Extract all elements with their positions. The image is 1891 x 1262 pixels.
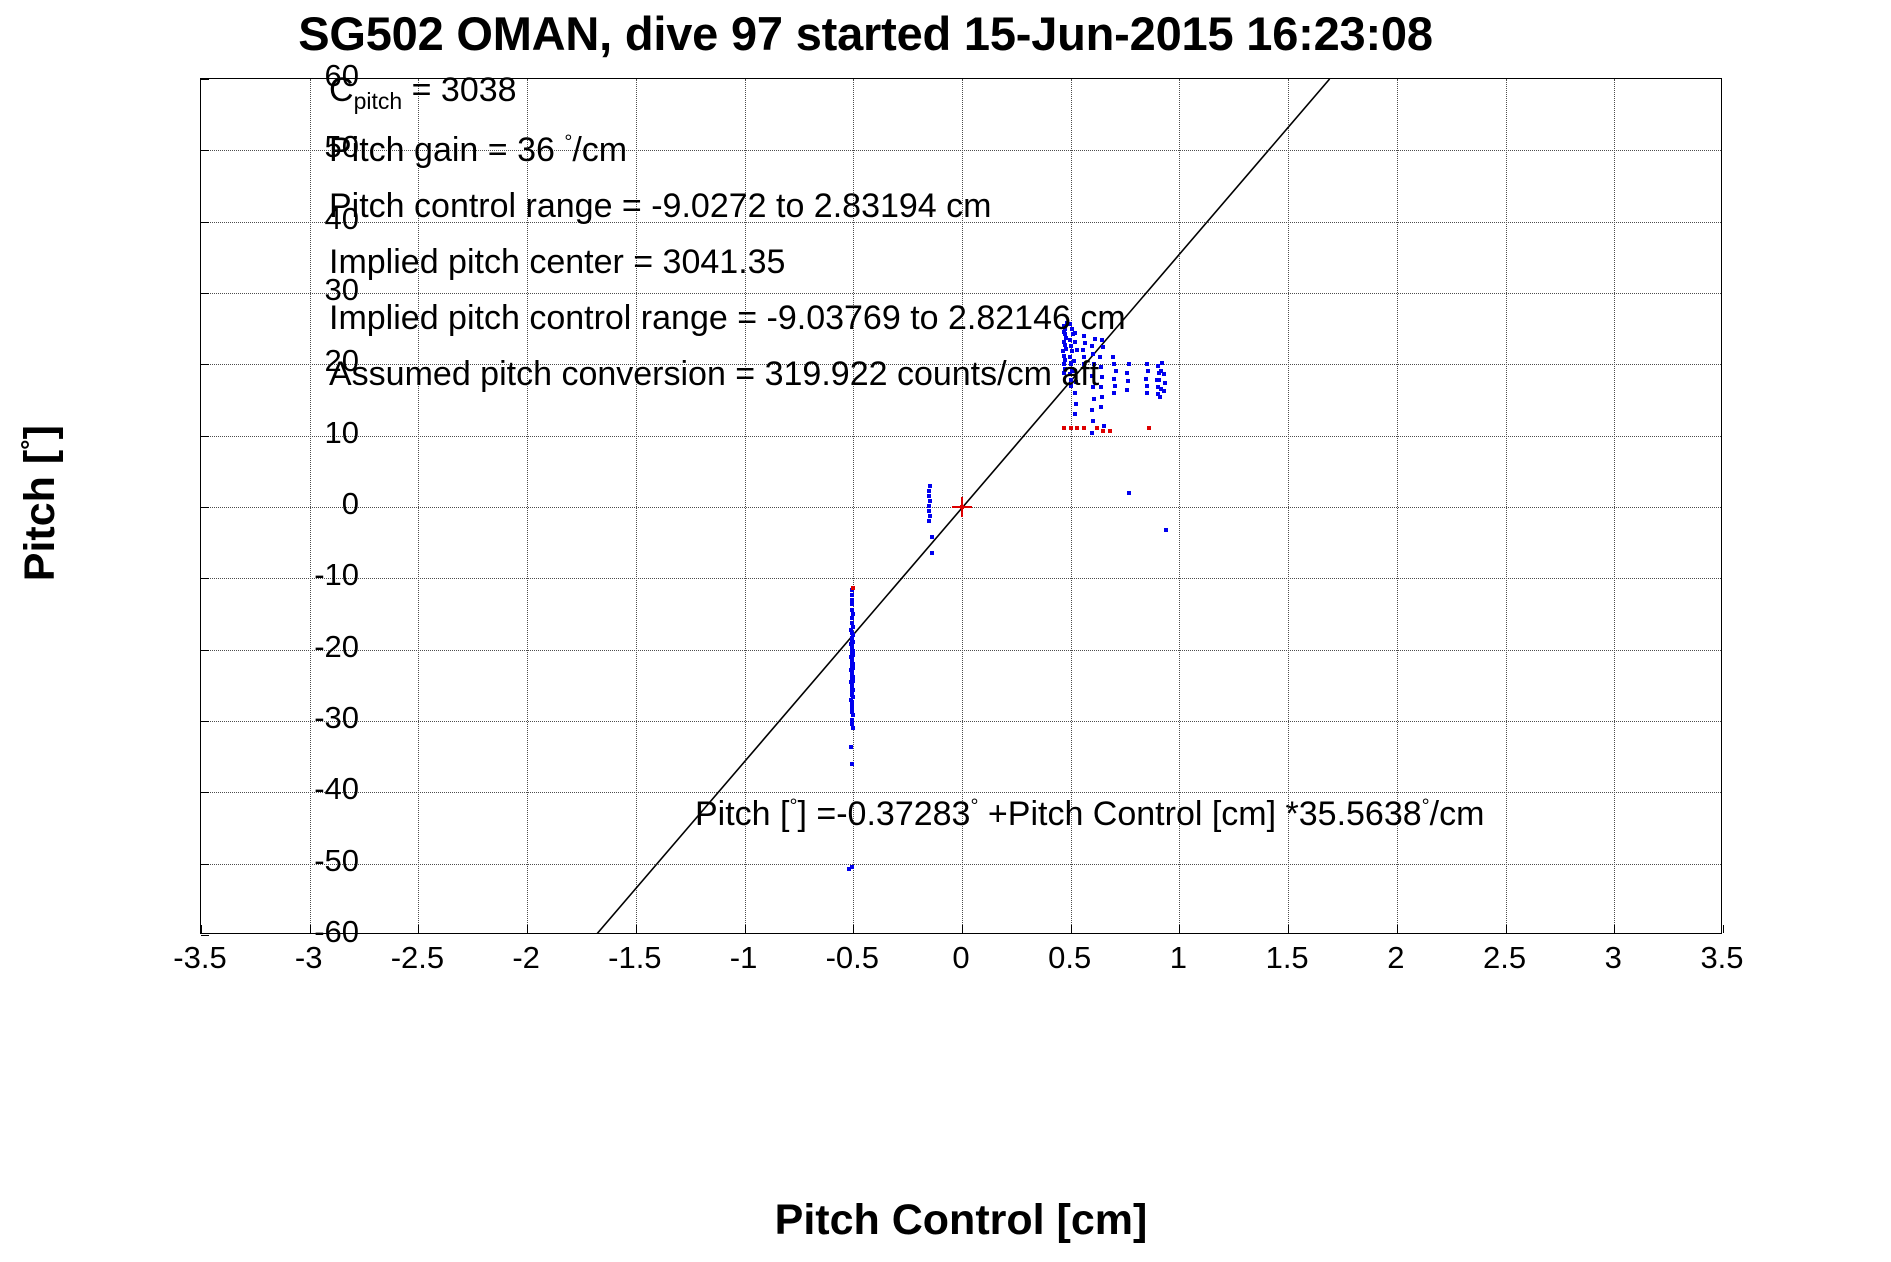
y-tick-label: -30 [239, 700, 359, 736]
data-point [1064, 347, 1068, 351]
data-point [1125, 371, 1129, 375]
y-tick-label: 10 [239, 415, 359, 451]
data-point [1069, 426, 1073, 430]
x-tick-label: -0.5 [792, 940, 912, 976]
x-tick-mark [1723, 925, 1724, 933]
data-point [1100, 338, 1104, 342]
data-point [1063, 343, 1067, 347]
data-point [1158, 395, 1162, 399]
pitch-gain-unit: /cm [572, 131, 627, 169]
data-point [1101, 429, 1105, 433]
y-tick-label: -10 [239, 557, 359, 593]
y-tick-label: -50 [239, 843, 359, 879]
data-point [927, 494, 931, 498]
c-pitch-value: = 3038 [402, 71, 516, 109]
eq-part3: +Pitch Control [cm] *35.5638 [978, 795, 1421, 833]
data-point [850, 602, 854, 606]
data-point [1157, 378, 1161, 382]
x-axis-label: Pitch Control [cm] [200, 1196, 1722, 1245]
data-point [1112, 391, 1116, 395]
eq-part4: /cm [1430, 795, 1485, 833]
data-point [1083, 341, 1087, 345]
data-point [1082, 426, 1086, 430]
data-point [1101, 345, 1105, 349]
y-tick-label: -40 [239, 771, 359, 807]
data-point [850, 762, 854, 766]
annotation-implied-pitch-center: Implied pitch center = 3041.35 [329, 243, 785, 282]
x-tick-label: 2 [1336, 940, 1456, 976]
x-tick-label: 0.5 [1010, 940, 1130, 976]
data-point [847, 867, 851, 871]
annotation-pitch-gain: Pitch gain = 36 °/cm [329, 131, 627, 170]
x-tick-label: 3 [1553, 940, 1673, 976]
data-point [1090, 408, 1094, 412]
data-point [1162, 372, 1166, 376]
data-point [1145, 391, 1149, 395]
data-point [1091, 419, 1095, 423]
data-point [1090, 431, 1094, 435]
data-point [1162, 389, 1166, 393]
y-tick-label: 50 [239, 129, 359, 165]
page-title: SG502 OMAN, dive 97 started 15-Jun-2015 … [0, 6, 1811, 61]
y-axis-label: Pitch [°] [15, 293, 65, 713]
y-tick-label: 60 [239, 58, 359, 94]
y-tick-label: 0 [239, 486, 359, 522]
data-point [1092, 397, 1096, 401]
data-point [1095, 426, 1099, 430]
data-point [927, 519, 931, 523]
data-point [1112, 362, 1116, 366]
data-point [927, 504, 931, 508]
data-point [1074, 402, 1078, 406]
data-point [1062, 426, 1066, 430]
data-point [930, 535, 934, 539]
x-tick-label: -2 [466, 940, 586, 976]
data-point [1145, 362, 1149, 366]
data-point [1127, 491, 1131, 495]
data-point [927, 489, 931, 493]
data-point [851, 726, 855, 730]
data-point [1099, 405, 1103, 409]
data-point [849, 745, 853, 749]
data-point [1146, 369, 1150, 373]
data-point [1111, 355, 1115, 359]
data-point [1068, 338, 1072, 342]
x-tick-label: -1.5 [575, 940, 695, 976]
data-point [930, 551, 934, 555]
data-point [1075, 348, 1079, 352]
data-point [1075, 426, 1079, 430]
origin-plus-marker [951, 496, 973, 518]
x-tick-label: -1 [684, 940, 804, 976]
data-point [1113, 384, 1117, 388]
c-pitch-subscript: pitch [354, 88, 403, 114]
data-point [1081, 348, 1085, 352]
x-tick-label: -2.5 [357, 940, 477, 976]
annotation-assumed-pitch-conversion: Assumed pitch conversion = 319.922 count… [329, 355, 1099, 394]
data-point [1069, 344, 1073, 348]
data-point [1073, 340, 1077, 344]
data-point [1145, 384, 1149, 388]
data-point [1108, 429, 1112, 433]
data-point [1100, 375, 1104, 379]
data-point [1073, 412, 1077, 416]
data-point [1144, 377, 1148, 381]
chart-page: SG502 OMAN, dive 97 started 15-Jun-2015 … [0, 0, 1891, 1262]
data-point [1062, 340, 1066, 344]
data-point [851, 586, 855, 590]
y-tick-mark [201, 935, 209, 936]
data-point [1100, 395, 1104, 399]
annotation-pitch-control-range: Pitch control range = -9.0272 to 2.83194… [329, 187, 991, 226]
data-point [1099, 365, 1103, 369]
data-point [1112, 377, 1116, 381]
annotation-implied-pitch-control-range: Implied pitch control range = -9.03769 t… [329, 299, 1126, 338]
data-point [1127, 362, 1131, 366]
data-point [1099, 385, 1103, 389]
eq-part1: Pitch [ [695, 795, 789, 833]
data-point [928, 484, 932, 488]
x-tick-label: 2.5 [1445, 940, 1565, 976]
data-point [1090, 344, 1094, 348]
y-tick-label: 20 [239, 343, 359, 379]
data-point [1114, 369, 1118, 373]
data-point [1126, 379, 1130, 383]
x-tick-label: 1 [1118, 940, 1238, 976]
degree-icon: ° [1422, 796, 1430, 818]
eq-part2: ] =-0.37283 [797, 795, 970, 833]
y-tick-label: -60 [239, 914, 359, 950]
annotation-fit-equation: Pitch [°] =-0.37283° +Pitch Control [cm]… [695, 795, 1484, 834]
data-point [1160, 361, 1164, 365]
plot-area: Cpitch = 3038 Pitch gain = 36 °/cm Pitch… [200, 78, 1722, 934]
data-point [1125, 388, 1129, 392]
data-point [1147, 426, 1151, 430]
x-tick-label: 3.5 [1662, 940, 1782, 976]
y-tick-label: -20 [239, 629, 359, 665]
y-tick-label: 40 [239, 201, 359, 237]
data-point [1102, 424, 1106, 428]
data-point [1163, 381, 1167, 385]
data-point [1164, 528, 1168, 532]
x-tick-label: 1.5 [1227, 940, 1347, 976]
x-tick-label: 0 [901, 940, 1021, 976]
y-tick-label: 30 [239, 272, 359, 308]
pitch-gain-text: Pitch gain = 36 [329, 131, 564, 169]
data-point [927, 509, 931, 513]
data-point [928, 514, 932, 518]
data-point [928, 499, 932, 503]
